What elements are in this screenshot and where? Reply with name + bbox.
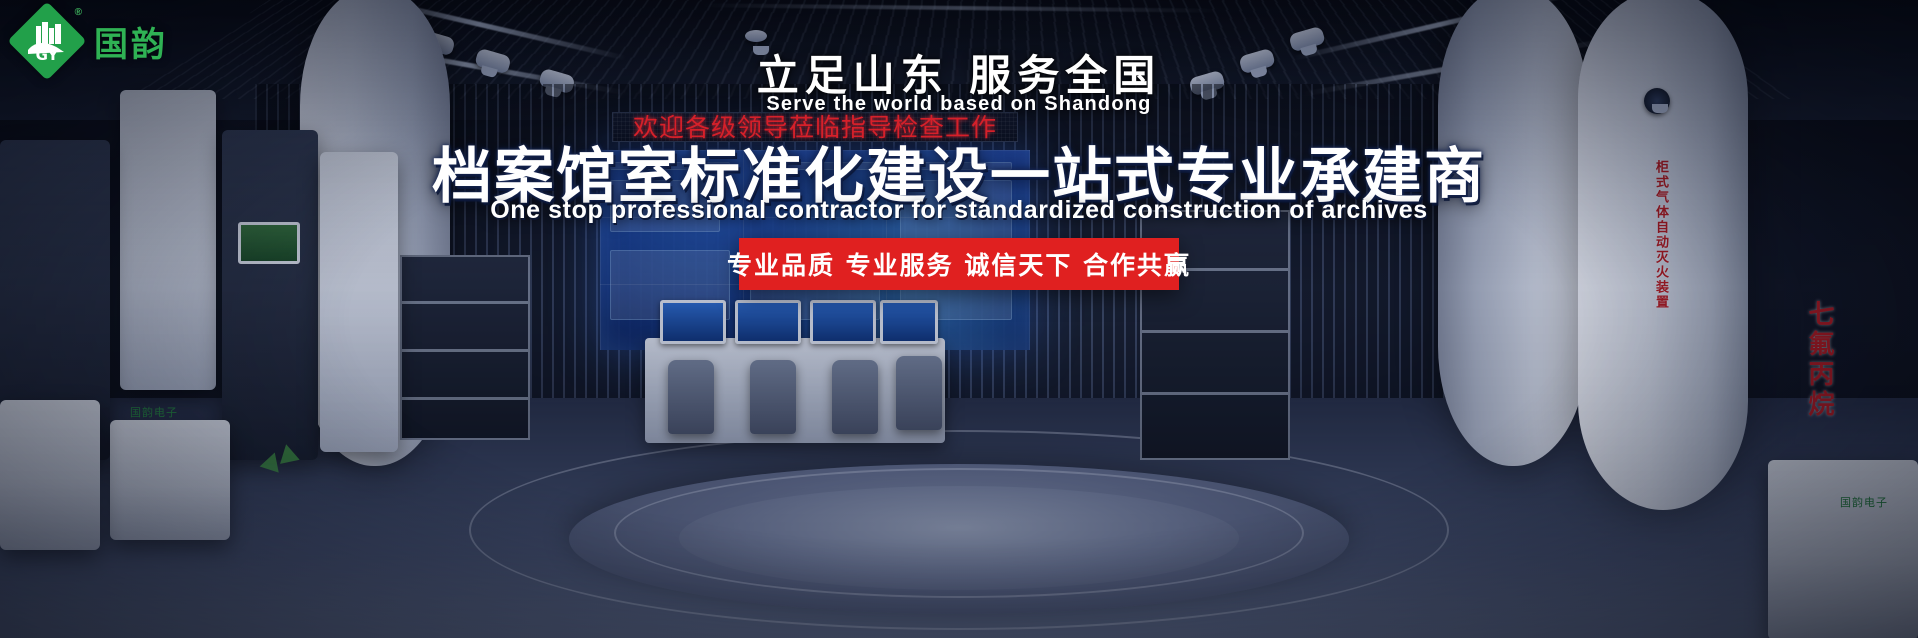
registered-trademark-icon: ® (75, 7, 82, 18)
slogan-badge-text: 专业品质 专业服务 诚信天下 合作共赢 (727, 246, 1191, 282)
led-ticker-text: 欢迎各级领导莅临指导检查工作 (613, 114, 1017, 142)
led-ticker-panel: 欢迎各级领导莅临指导检查工作 (612, 112, 1018, 142)
hero-banner: 欢迎各级领导莅临指导检查工作 (0, 0, 1918, 638)
hero-text-overlay: GY ® 国韵 立足山东 服务全国 Serve the world based … (0, 0, 1918, 638)
slogan-badge: 专业品质 专业服务 诚信天下 合作共赢 (739, 238, 1179, 290)
main-headline-en: One stop professional contractor for sta… (0, 196, 1918, 225)
